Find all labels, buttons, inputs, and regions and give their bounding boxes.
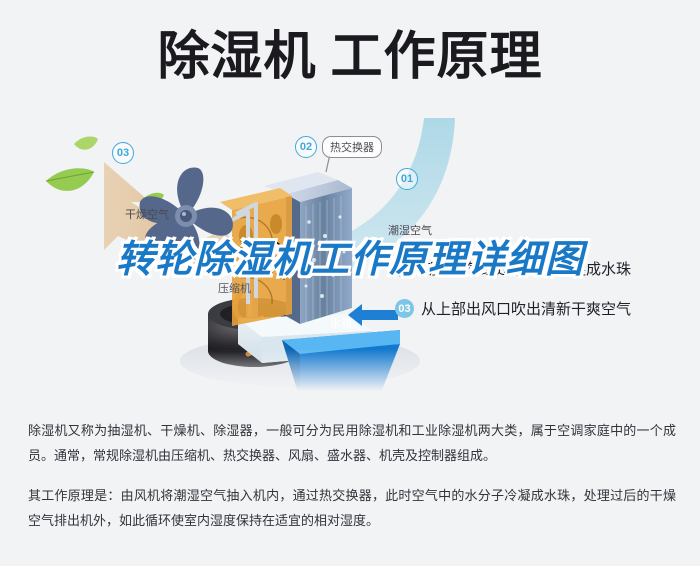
badge-02: 02 bbox=[295, 136, 317, 158]
label-water-tank: 水箱 bbox=[330, 315, 352, 331]
label-dry-air: 干燥空气 bbox=[125, 206, 169, 222]
step-number-badge: 03 bbox=[395, 299, 414, 318]
label-compressor: 压缩机 bbox=[218, 280, 251, 296]
label-humid-air: 潮湿空气 bbox=[388, 222, 432, 238]
badge-03: 03 bbox=[112, 142, 134, 164]
watermark-title: 转轮除湿机工作原理详细图 bbox=[90, 240, 610, 280]
page-title-part2: 工作原理 bbox=[331, 31, 543, 83]
water-tank-icon bbox=[282, 330, 400, 399]
body-copy: 除湿机又称为抽湿机、干燥机、除湿器，一般可分为民用除湿机和工业除湿机两大类，属于… bbox=[28, 418, 676, 547]
badge-01: 01 bbox=[396, 168, 418, 190]
page-title: 除湿机 工作原理 bbox=[0, 18, 700, 96]
list-item: 03 从上部出风口吹出清新干爽空气 bbox=[395, 298, 695, 319]
body-paragraph-2: 其工作原理是：由风机将潮湿空气抽入机内，通过热交换器，此时空气中的水分子冷凝成水… bbox=[28, 483, 676, 534]
page-title-part1: 除湿机 bbox=[157, 31, 316, 83]
callout-heat-exchanger: 热交换器 bbox=[322, 136, 382, 158]
page-root: 除湿机 工作原理 bbox=[0, 0, 700, 566]
step-text: 从上部出风口吹出清新干爽空气 bbox=[421, 298, 631, 319]
body-paragraph-1: 除湿机又称为抽湿机、干燥机、除湿器，一般可分为民用除湿机和工业除湿机两大类，属于… bbox=[28, 418, 676, 469]
